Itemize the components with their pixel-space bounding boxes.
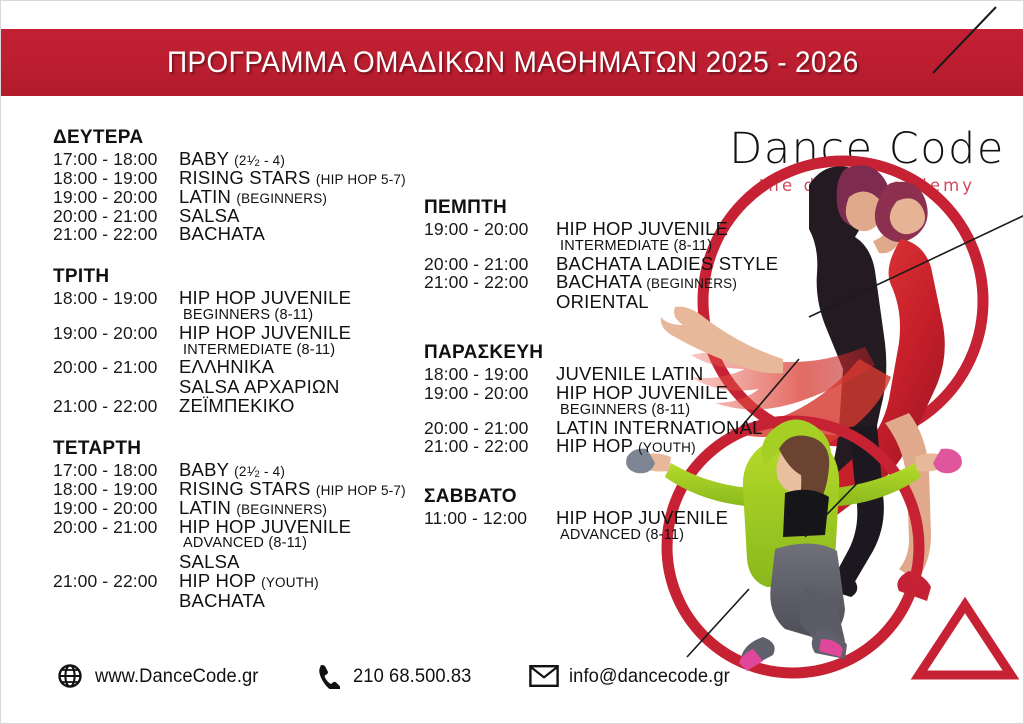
day-block: ΤΕΤΑΡΤΗ17:00 - 18:00BABY (21⁄2 - 4)18:00…	[53, 438, 453, 611]
contact-email[interactable]: info@dancecode.gr	[527, 664, 740, 688]
schedule-time: 21:00 - 22:00	[53, 398, 179, 416]
schedule-column-left: ΔΕΥΤΕΡΑ17:00 - 18:00BABY (21⁄2 - 4)18:00…	[53, 127, 453, 611]
schedule-class-level: ADVANCED (8-11)	[53, 536, 453, 552]
schedule-time: 20:00 - 21:00	[53, 519, 179, 537]
globe-icon	[53, 663, 87, 689]
day-gap	[424, 312, 844, 342]
schedule-time: 19:00 - 20:00	[53, 325, 179, 343]
schedule-row: 19:00 - 20:00HIP HOP JUVENILE	[424, 384, 844, 403]
schedule-row: 18:00 - 19:00HIP HOP JUVENILE	[53, 289, 453, 308]
schedule-time: 21:00 - 22:00	[424, 438, 556, 456]
day-title: ΠΑΡΑΣΚΕΥΗ	[424, 342, 844, 364]
schedule-class: HIP HOP (YOUTH)	[179, 572, 319, 591]
schedule-time: 21:00 - 22:00	[424, 274, 556, 292]
schedule-time: 20:00 - 21:00	[53, 359, 179, 377]
schedule-class: LATIN (BEGINNERS)	[179, 188, 327, 207]
contact-phone[interactable]: 210 68.500.83	[311, 663, 479, 689]
schedule-time: 18:00 - 19:00	[53, 481, 179, 499]
schedule-row: 18:00 - 19:00RISING STARS (HIP HOP 5-7)	[53, 169, 453, 188]
schedule-row: 18:00 - 19:00RISING STARS (HIP HOP 5-7)	[53, 480, 453, 499]
email-text: info@dancecode.gr	[569, 665, 730, 688]
schedule-time: 19:00 - 20:00	[53, 189, 179, 207]
schedule-time: 20:00 - 21:00	[424, 256, 556, 274]
envelope-icon	[527, 664, 561, 688]
schedule-class: RISING STARS (HIP HOP 5-7)	[179, 169, 406, 188]
day-gap	[53, 416, 453, 438]
schedule-class: HIP HOP JUVENILE	[179, 518, 351, 537]
schedule-time: 18:00 - 19:00	[53, 170, 179, 188]
schedule-row: 11:00 - 12:00HIP HOP JUVENILE	[424, 509, 844, 528]
day-block: ΤΡΙΤΗ18:00 - 19:00HIP HOP JUVENILEBEGINN…	[53, 266, 453, 416]
schedule-time: 21:00 - 22:00	[53, 226, 179, 244]
schedule-row: 19:00 - 20:00LATIN (BEGINNERS)	[53, 499, 453, 518]
schedule-class: BACHATA (BEGINNERS)	[556, 273, 737, 292]
schedule-row: 19:00 - 20:00HIP HOP JUVENILE	[424, 220, 844, 239]
schedule-class: HIP HOP JUVENILE	[556, 509, 728, 528]
schedule-time: 17:00 - 18:00	[53, 462, 179, 480]
day-title: ΤΕΤΑΡΤΗ	[53, 438, 453, 460]
schedule-row: 20:00 - 21:00HIP HOP JUVENILE	[53, 518, 453, 537]
schedule-class-extra: ORIENTAL	[424, 292, 844, 312]
schedule-class: ΖΕΪΜΠΕΚΙΚΟ	[179, 397, 295, 416]
day-title: ΠΕΜΠΤΗ	[424, 197, 844, 219]
schedule-class: HIP HOP JUVENILE	[556, 384, 728, 403]
day-title: ΣΑΒΒΑΤΟ	[424, 486, 844, 508]
schedule-row: 21:00 - 22:00BACHATA (BEGINNERS)	[424, 273, 844, 292]
schedule-class-extra: SALSA ΑΡΧΑΡΙΩΝ	[53, 377, 453, 397]
schedule-class: HIP HOP JUVENILE	[179, 324, 351, 343]
phone-text: 210 68.500.83	[353, 665, 471, 688]
contact-footer: www.DanceCode.gr 210 68.500.83 info@danc…	[53, 663, 740, 689]
schedule-time: 20:00 - 21:00	[424, 420, 556, 438]
schedule-column-right: ΠΕΜΠΤΗ19:00 - 20:00HIP HOP JUVENILEINTER…	[424, 197, 844, 544]
schedule-class: ΕΛΛΗΝΙΚΑ	[179, 358, 274, 377]
schedule-class: RISING STARS (HIP HOP 5-7)	[179, 480, 406, 499]
schedule-row: 21:00 - 22:00HIP HOP (YOUTH)	[424, 437, 844, 456]
day-block: ΣΑΒΒΑΤΟ11:00 - 12:00HIP HOP JUVENILEADVA…	[424, 486, 844, 544]
schedule-time: 19:00 - 20:00	[424, 221, 556, 239]
schedule-row: 21:00 - 22:00ΖΕΪΜΠΕΚΙΚΟ	[53, 397, 453, 416]
schedule-time: 19:00 - 20:00	[53, 500, 179, 518]
schedule-class: LATIN (BEGINNERS)	[179, 499, 327, 518]
day-title: ΤΡΙΤΗ	[53, 266, 453, 288]
schedule-row: 21:00 - 22:00HIP HOP (YOUTH)	[53, 572, 453, 591]
decorative-triangle	[919, 605, 1011, 675]
phone-icon	[311, 663, 345, 689]
schedule-time: 17:00 - 18:00	[53, 151, 179, 169]
schedule-class: BACHATA	[179, 225, 265, 244]
logo-name: Dance Code	[727, 127, 1007, 172]
poster-root: ΠΡΟΓΡΑΜΜΑ ΟΜΑΔΙΚΩΝ ΜΑΘΗΜΑΤΩΝ 2025 - 2026…	[0, 0, 1024, 724]
schedule-time: 18:00 - 19:00	[424, 366, 556, 384]
page-title: ΠΡΟΓΡΑΜΜΑ ΟΜΑΔΙΚΩΝ ΜΑΘΗΜΑΤΩΝ 2025 - 2026	[167, 46, 859, 80]
brand-logo: Dance Code the dance academy	[727, 127, 1007, 195]
schedule-row: 21:00 - 22:00BACHATA	[53, 225, 453, 244]
schedule-class-level: ADVANCED (8-11)	[424, 528, 844, 544]
schedule-class: HIP HOP JUVENILE	[179, 289, 351, 308]
schedule-class-extra: SALSA	[53, 552, 453, 572]
schedule-class-extra: BACHATA	[53, 591, 453, 611]
day-gap	[53, 244, 453, 266]
schedule-time: 18:00 - 19:00	[53, 290, 179, 308]
schedule-time: 21:00 - 22:00	[53, 573, 179, 591]
header-bar: ΠΡΟΓΡΑΜΜΑ ΟΜΑΔΙΚΩΝ ΜΑΘΗΜΑΤΩΝ 2025 - 2026	[1, 29, 1024, 96]
schedule-row: 19:00 - 20:00LATIN (BEGINNERS)	[53, 188, 453, 207]
logo-tagline: the dance academy	[727, 176, 1007, 195]
day-block: ΠΕΜΠΤΗ19:00 - 20:00HIP HOP JUVENILEINTER…	[424, 197, 844, 312]
day-title: ΔΕΥΤΕΡΑ	[53, 127, 453, 149]
day-gap	[424, 456, 844, 486]
schedule-time: 20:00 - 21:00	[53, 208, 179, 226]
day-block: ΔΕΥΤΕΡΑ17:00 - 18:00BABY (21⁄2 - 4)18:00…	[53, 127, 453, 244]
schedule-time: 11:00 - 12:00	[424, 510, 556, 528]
schedule-class: HIP HOP JUVENILE	[556, 220, 728, 239]
contact-website[interactable]: www.DanceCode.gr	[53, 663, 269, 689]
schedule-time: 19:00 - 20:00	[424, 385, 556, 403]
schedule-row: 20:00 - 21:00ΕΛΛΗΝΙΚΑ	[53, 358, 453, 377]
day-block: ΠΑΡΑΣΚΕΥΗ18:00 - 19:00JUVENILE LATIN19:0…	[424, 342, 844, 456]
website-text: www.DanceCode.gr	[95, 665, 259, 688]
schedule-class: HIP HOP (YOUTH)	[556, 437, 696, 456]
schedule-row: 19:00 - 20:00HIP HOP JUVENILE	[53, 324, 453, 343]
